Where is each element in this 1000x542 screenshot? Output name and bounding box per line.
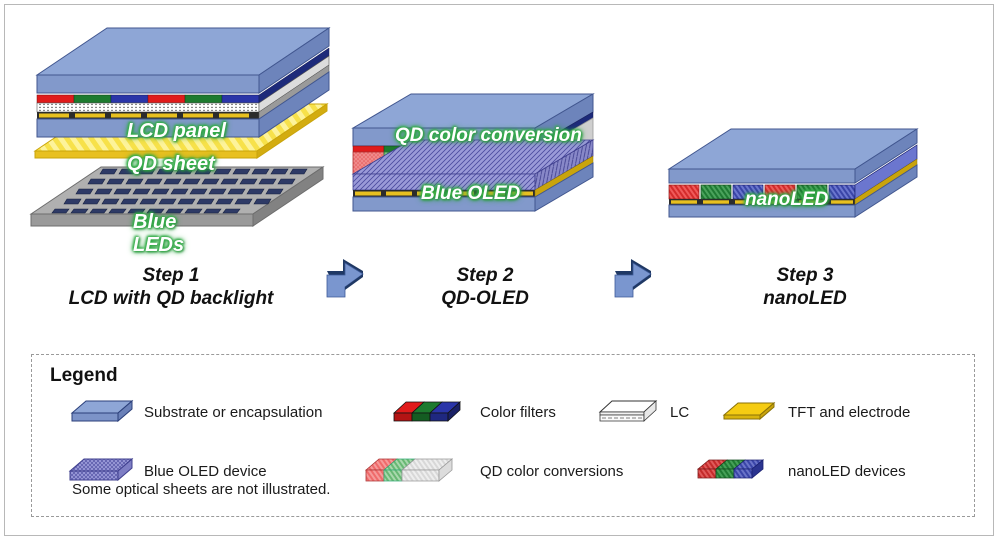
legend-swatch-nanoled [696,455,782,487]
legend-title: Legend [50,365,118,387]
step3-number: Step 3 [705,264,905,287]
step1-caption: Step 1 LCD with QD backlight [21,264,321,310]
step3-name: nanoLED [705,287,905,310]
step2-diagram: QD color conversion Blue OLED [345,90,625,240]
arrow-step1-to-step2 [325,257,365,303]
step1-name: LCD with QD backlight [21,287,321,310]
arrow-step2-to-step3 [613,257,653,303]
step1-lc-layer [37,103,259,112]
step3-diagram: nanoLED [655,113,955,233]
legend-swatch-substrate [70,397,134,427]
legend-box: Legend Substrate or encapsulation Color … [31,354,975,517]
legend-note: Some optical sheets are not illustrated. [72,481,330,498]
step1-number: Step 1 [21,264,321,287]
step2-caption: Step 2 QD-OLED [385,264,585,310]
step2-name: QD-OLED [385,287,585,310]
legend-label-color-filters: Color filters [480,404,556,421]
legend-swatch-color-filters [390,397,470,427]
step1-blue-led-board [31,167,323,226]
step3-caption: Step 3 nanoLED [705,264,905,310]
legend-label-nanoled: nanoLED devices [788,463,906,480]
legend-label-lc: LC [670,404,689,421]
legend-swatch-lc [598,397,660,427]
legend-label-qd-conversion: QD color conversions [480,463,623,480]
legend-swatch-tft [722,399,778,427]
legend-label-tft: TFT and electrode [788,404,910,421]
figure-frame: LCD panel QD sheet Blue LEDs Step 1 LCD … [4,4,994,536]
legend-label-substrate: Substrate or encapsulation [144,404,322,421]
legend-label-blue-oled: Blue OLED device [144,463,267,480]
legend-swatch-qd-conversion [364,455,460,487]
step1-diagram: LCD panel QD sheet Blue LEDs [23,19,333,259]
step2-number: Step 2 [385,264,585,287]
